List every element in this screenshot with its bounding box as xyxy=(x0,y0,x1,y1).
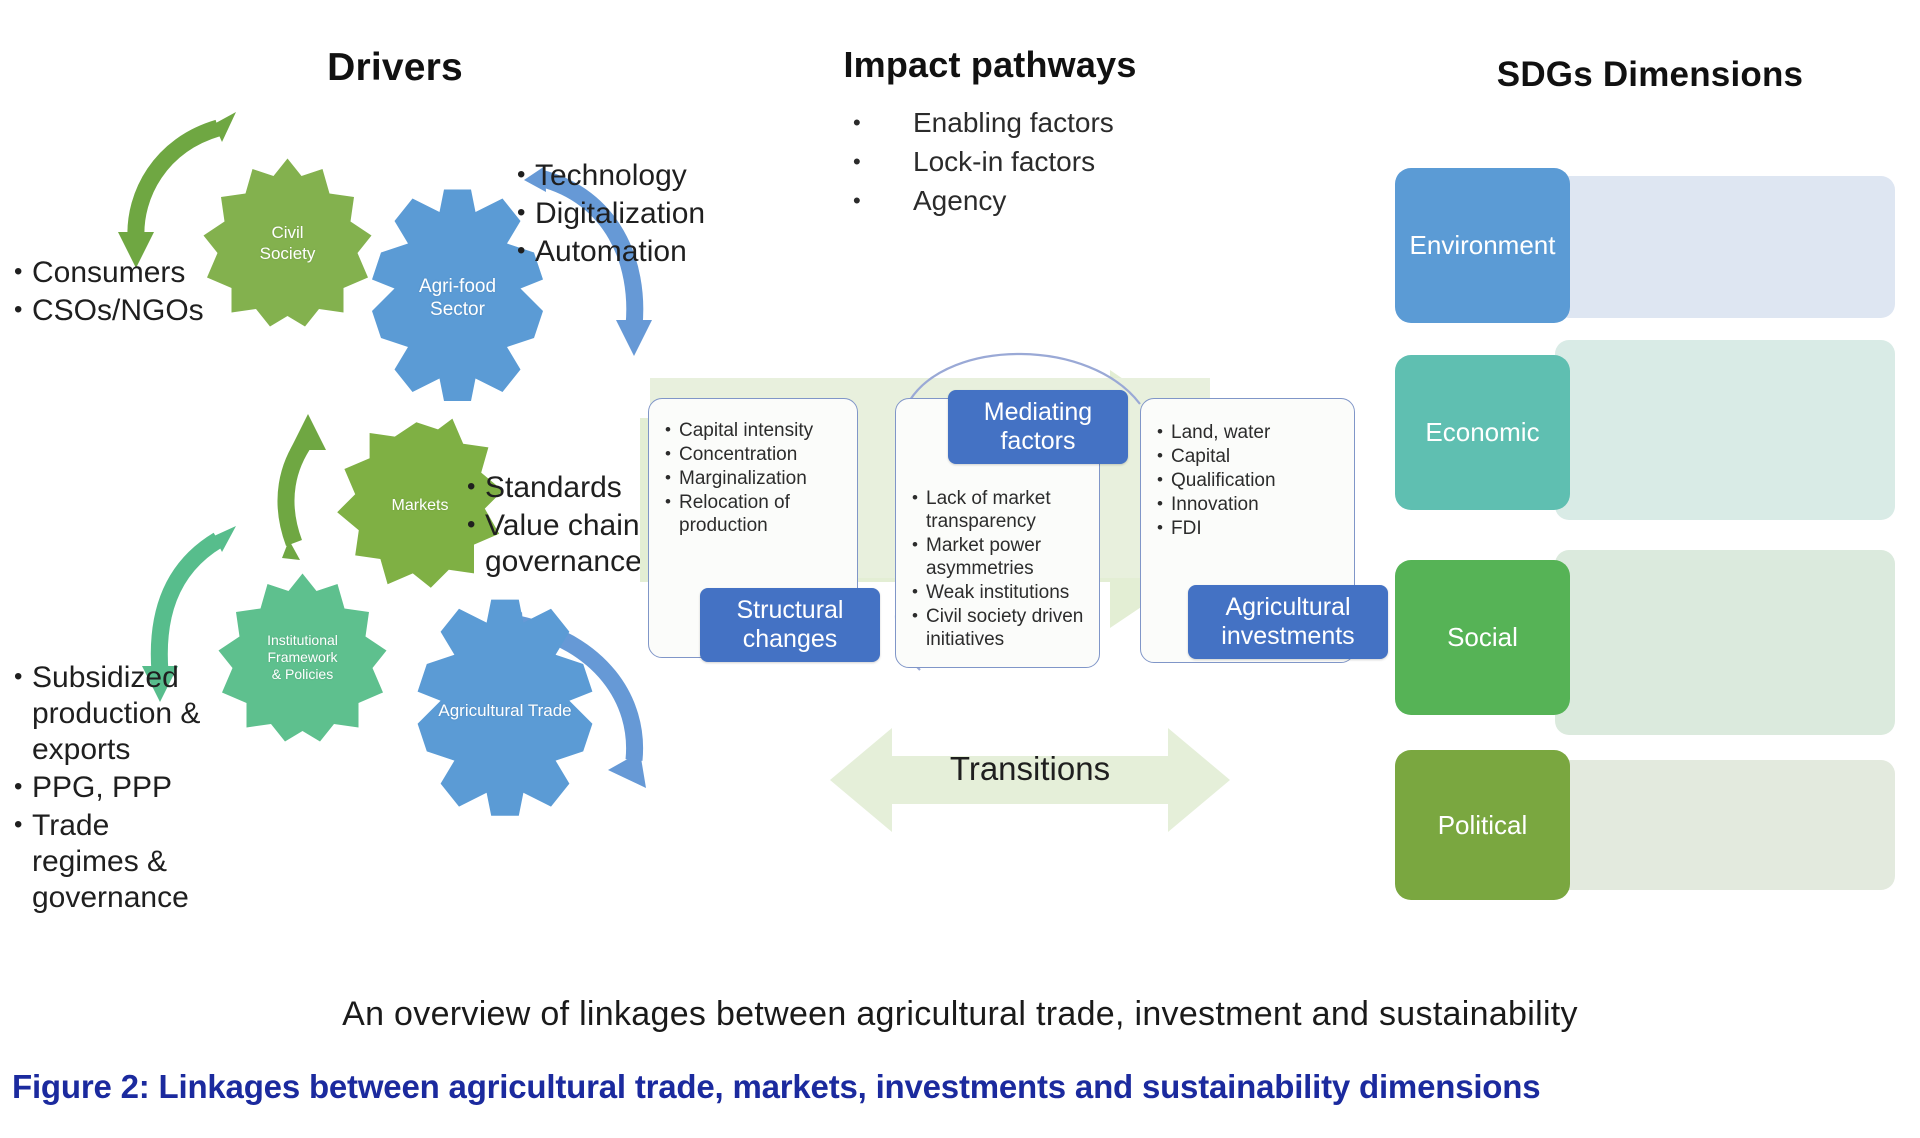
driver-bullet: Technology xyxy=(515,158,775,194)
driver-bullet: Automation xyxy=(515,234,775,270)
transitions-label: Transitions xyxy=(830,750,1230,788)
pathway-item: • Agency xyxy=(845,183,1225,219)
driver-bullet: Trade regimes & governance xyxy=(12,808,222,916)
gear-label-markets: Markets xyxy=(392,496,449,515)
impact-bullet: FDI xyxy=(1157,517,1346,540)
impact-bullet: Concentration xyxy=(665,443,849,466)
tag-line: Structural xyxy=(710,596,870,625)
sdg-panel-political xyxy=(1555,760,1895,890)
gear-label-line: Institutional xyxy=(267,632,338,649)
sdg-panel-environment xyxy=(1555,176,1895,318)
impact-bullet: Qualification xyxy=(1157,469,1346,492)
gear-label-agricultural-trade: Agricultural Trade xyxy=(438,701,571,720)
pathway-label: Agency xyxy=(913,183,1225,219)
impact-bullet: Weak institutions xyxy=(912,581,1091,604)
gear-label-line: Agri-food xyxy=(419,275,496,298)
sdg-pill-environment: Environment xyxy=(1395,168,1570,323)
impact-bullet: Land, water xyxy=(1157,421,1346,444)
sdg-row-political: Political Human rights (SDG1 -8) Democra… xyxy=(1395,750,1895,900)
sdg-row-economic: Economic Incomes, poverty (SDG1) Price v… xyxy=(1395,355,1895,510)
driver-bullet: PPG, PPP xyxy=(12,770,222,806)
tag-mediating-factors: Mediating factors xyxy=(948,390,1128,464)
drivers-technology-list: Technology Digitalization Automation xyxy=(515,158,775,272)
mediating-factors-list: Lack of market transparency Market power… xyxy=(912,487,1091,652)
impact-pathways-column-title: Impact pathways xyxy=(780,44,1200,86)
sdg-pill-social: Social xyxy=(1395,560,1570,715)
gear-label-line: & Policies xyxy=(267,666,338,683)
gear-label-line: Framework xyxy=(267,649,338,666)
bullet-icon: • xyxy=(845,144,913,180)
tag-line: investments xyxy=(1198,622,1378,651)
tag-line: changes xyxy=(710,625,870,654)
bullet-icon: • xyxy=(845,183,913,219)
pathway-label: Enabling factors xyxy=(913,105,1225,141)
tag-line: Mediating xyxy=(958,398,1118,427)
driver-bullet: CSOs/NGOs xyxy=(12,293,242,329)
structural-changes-list: Capital intensity Concentration Marginal… xyxy=(665,419,849,538)
driver-bullet: Digitalization xyxy=(515,196,775,232)
gear-label-line: Sector xyxy=(419,298,496,321)
markets-arrow xyxy=(282,414,326,560)
pathway-item: • Lock-in factors xyxy=(845,144,1225,180)
drivers-subsidies-list: Subsidized production & exports PPG, PPP… xyxy=(12,660,222,918)
impact-bullet: Lack of market transparency xyxy=(912,487,1091,533)
sdg-row-environment: Environment GHG( SDG13) Biodiversity (SD… xyxy=(1395,168,1895,323)
impact-bullet: Market power asymmetries xyxy=(912,534,1091,580)
sdg-pill-political: Political xyxy=(1395,750,1570,900)
driver-bullet: Consumers xyxy=(12,255,242,291)
impact-bullet: Capital xyxy=(1157,445,1346,468)
gear-label-line: Society xyxy=(260,243,316,264)
impact-pathways-list: • Enabling factors • Lock-in factors • A… xyxy=(845,105,1225,222)
gear-label-civil-society: Civil Society xyxy=(260,222,316,264)
drivers-consumers-list: Consumers CSOs/NGOs xyxy=(12,255,242,331)
gear-institutional-framework: Institutional Framework & Policies xyxy=(215,570,390,745)
drivers-column-title: Drivers xyxy=(235,46,555,90)
figure-caption: Figure 2: Linkages between agricultural … xyxy=(12,1068,1832,1106)
impact-bullet: Marginalization xyxy=(665,467,849,490)
sdg-panel-economic xyxy=(1555,340,1895,520)
tag-line: factors xyxy=(958,427,1118,456)
driver-bullet: Subsidized production & exports xyxy=(12,660,222,768)
pathway-item: • Enabling factors xyxy=(845,105,1225,141)
bullet-icon: • xyxy=(845,105,913,141)
gear-label-line: Markets xyxy=(392,496,449,515)
tag-structural-changes: Structural changes xyxy=(700,588,880,662)
impact-bullet: Capital intensity xyxy=(665,419,849,442)
pathway-label: Lock-in factors xyxy=(913,144,1225,180)
gear-label-line: Civil xyxy=(260,222,316,243)
figure-canvas: Drivers Impact pathways SDGs Dimensions … xyxy=(0,0,1920,1138)
sdg-panel-social xyxy=(1555,550,1895,735)
overview-caption: An overview of linkages between agricult… xyxy=(0,995,1920,1034)
gear-label-agri-food: Agri-food Sector xyxy=(419,275,496,321)
impact-bullet: Innovation xyxy=(1157,493,1346,516)
gear-label-line: Agricultural Trade xyxy=(438,701,571,720)
tag-agricultural-investments: Agricultural investments xyxy=(1188,585,1388,659)
sdg-row-social: Social Health, wellbeing (SDG 3) Risk, s… xyxy=(1395,560,1895,715)
impact-bullet: Civil society driven initiatives xyxy=(912,605,1091,651)
gear-agricultural-trade: Agricultural Trade xyxy=(390,595,620,825)
sdg-pill-economic: Economic xyxy=(1395,355,1570,510)
agricultural-investments-list: Land, water Capital Qualification Innova… xyxy=(1157,421,1346,541)
gear-label-institutional: Institutional Framework & Policies xyxy=(267,632,338,683)
sdg-dimensions-column-title: SDGs Dimensions xyxy=(1440,55,1860,95)
impact-bullet: Relocation of production xyxy=(665,491,849,537)
tag-line: Agricultural xyxy=(1198,593,1378,622)
